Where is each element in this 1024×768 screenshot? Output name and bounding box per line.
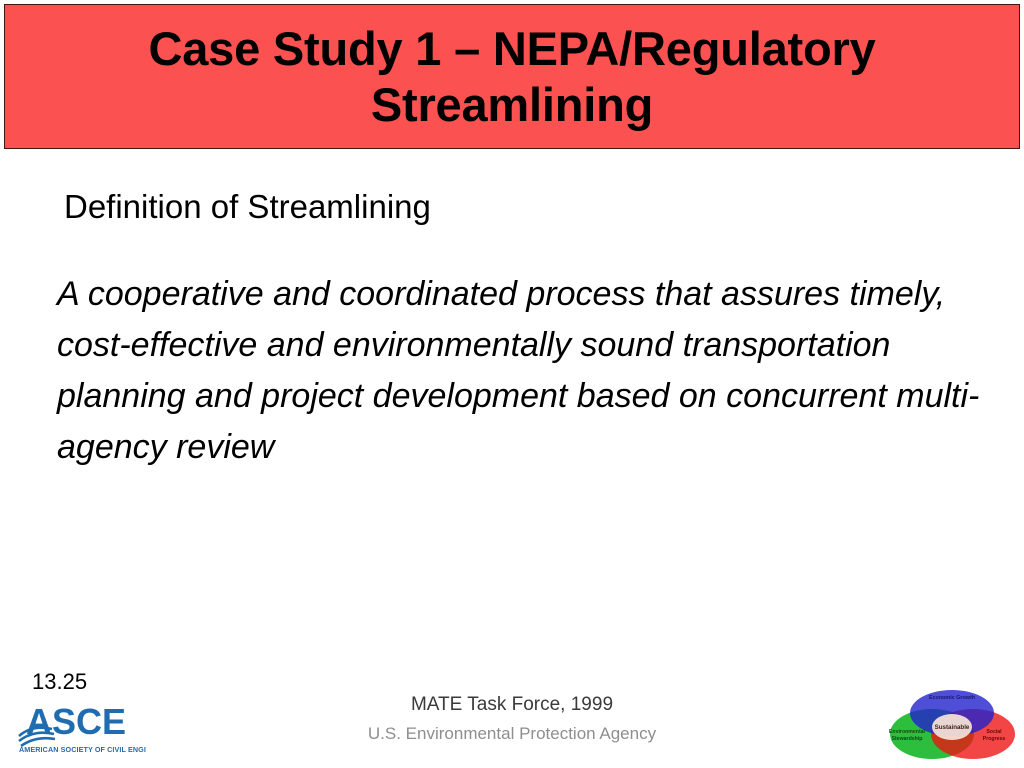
credit-primary: MATE Task Force, 1999 bbox=[0, 692, 1024, 718]
slide-title-bar: Case Study 1 – NEPA/Regulatory Streamlin… bbox=[4, 4, 1020, 149]
venn-label-economic: Economic Growth bbox=[929, 695, 975, 701]
slide-number: 13.25 bbox=[32, 671, 87, 693]
svg-text:Progress: Progress bbox=[983, 736, 1006, 742]
credit-secondary: U.S. Environmental Protection Agency bbox=[0, 722, 1024, 746]
credit-block: MATE Task Force, 1999 U.S. Environmental… bbox=[0, 692, 1024, 745]
venn-label-social: Social bbox=[986, 729, 1002, 735]
definition-paragraph: A cooperative and coordinated process th… bbox=[57, 269, 1009, 473]
slide-body: Definition of Streamlining A cooperative… bbox=[0, 152, 1024, 642]
sustainability-venn-logo: Economic Growth Environmental Stewardshi… bbox=[884, 686, 1018, 762]
venn-label-center: Sustainable bbox=[935, 724, 970, 731]
svg-text:Stewardship: Stewardship bbox=[892, 736, 923, 742]
asce-logo-tagline: AMERICAN SOCIETY OF CIVIL ENGINEERS bbox=[19, 745, 146, 754]
section-heading: Definition of Streamlining bbox=[64, 187, 431, 227]
venn-label-environmental: Environmental bbox=[889, 729, 926, 735]
venn-diagram-graphic: Economic Growth Environmental Stewardshi… bbox=[884, 686, 1018, 762]
slide-canvas: Case Study 1 – NEPA/Regulatory Streamlin… bbox=[0, 0, 1024, 768]
page-title: Case Study 1 – NEPA/Regulatory Streamlin… bbox=[132, 21, 891, 132]
